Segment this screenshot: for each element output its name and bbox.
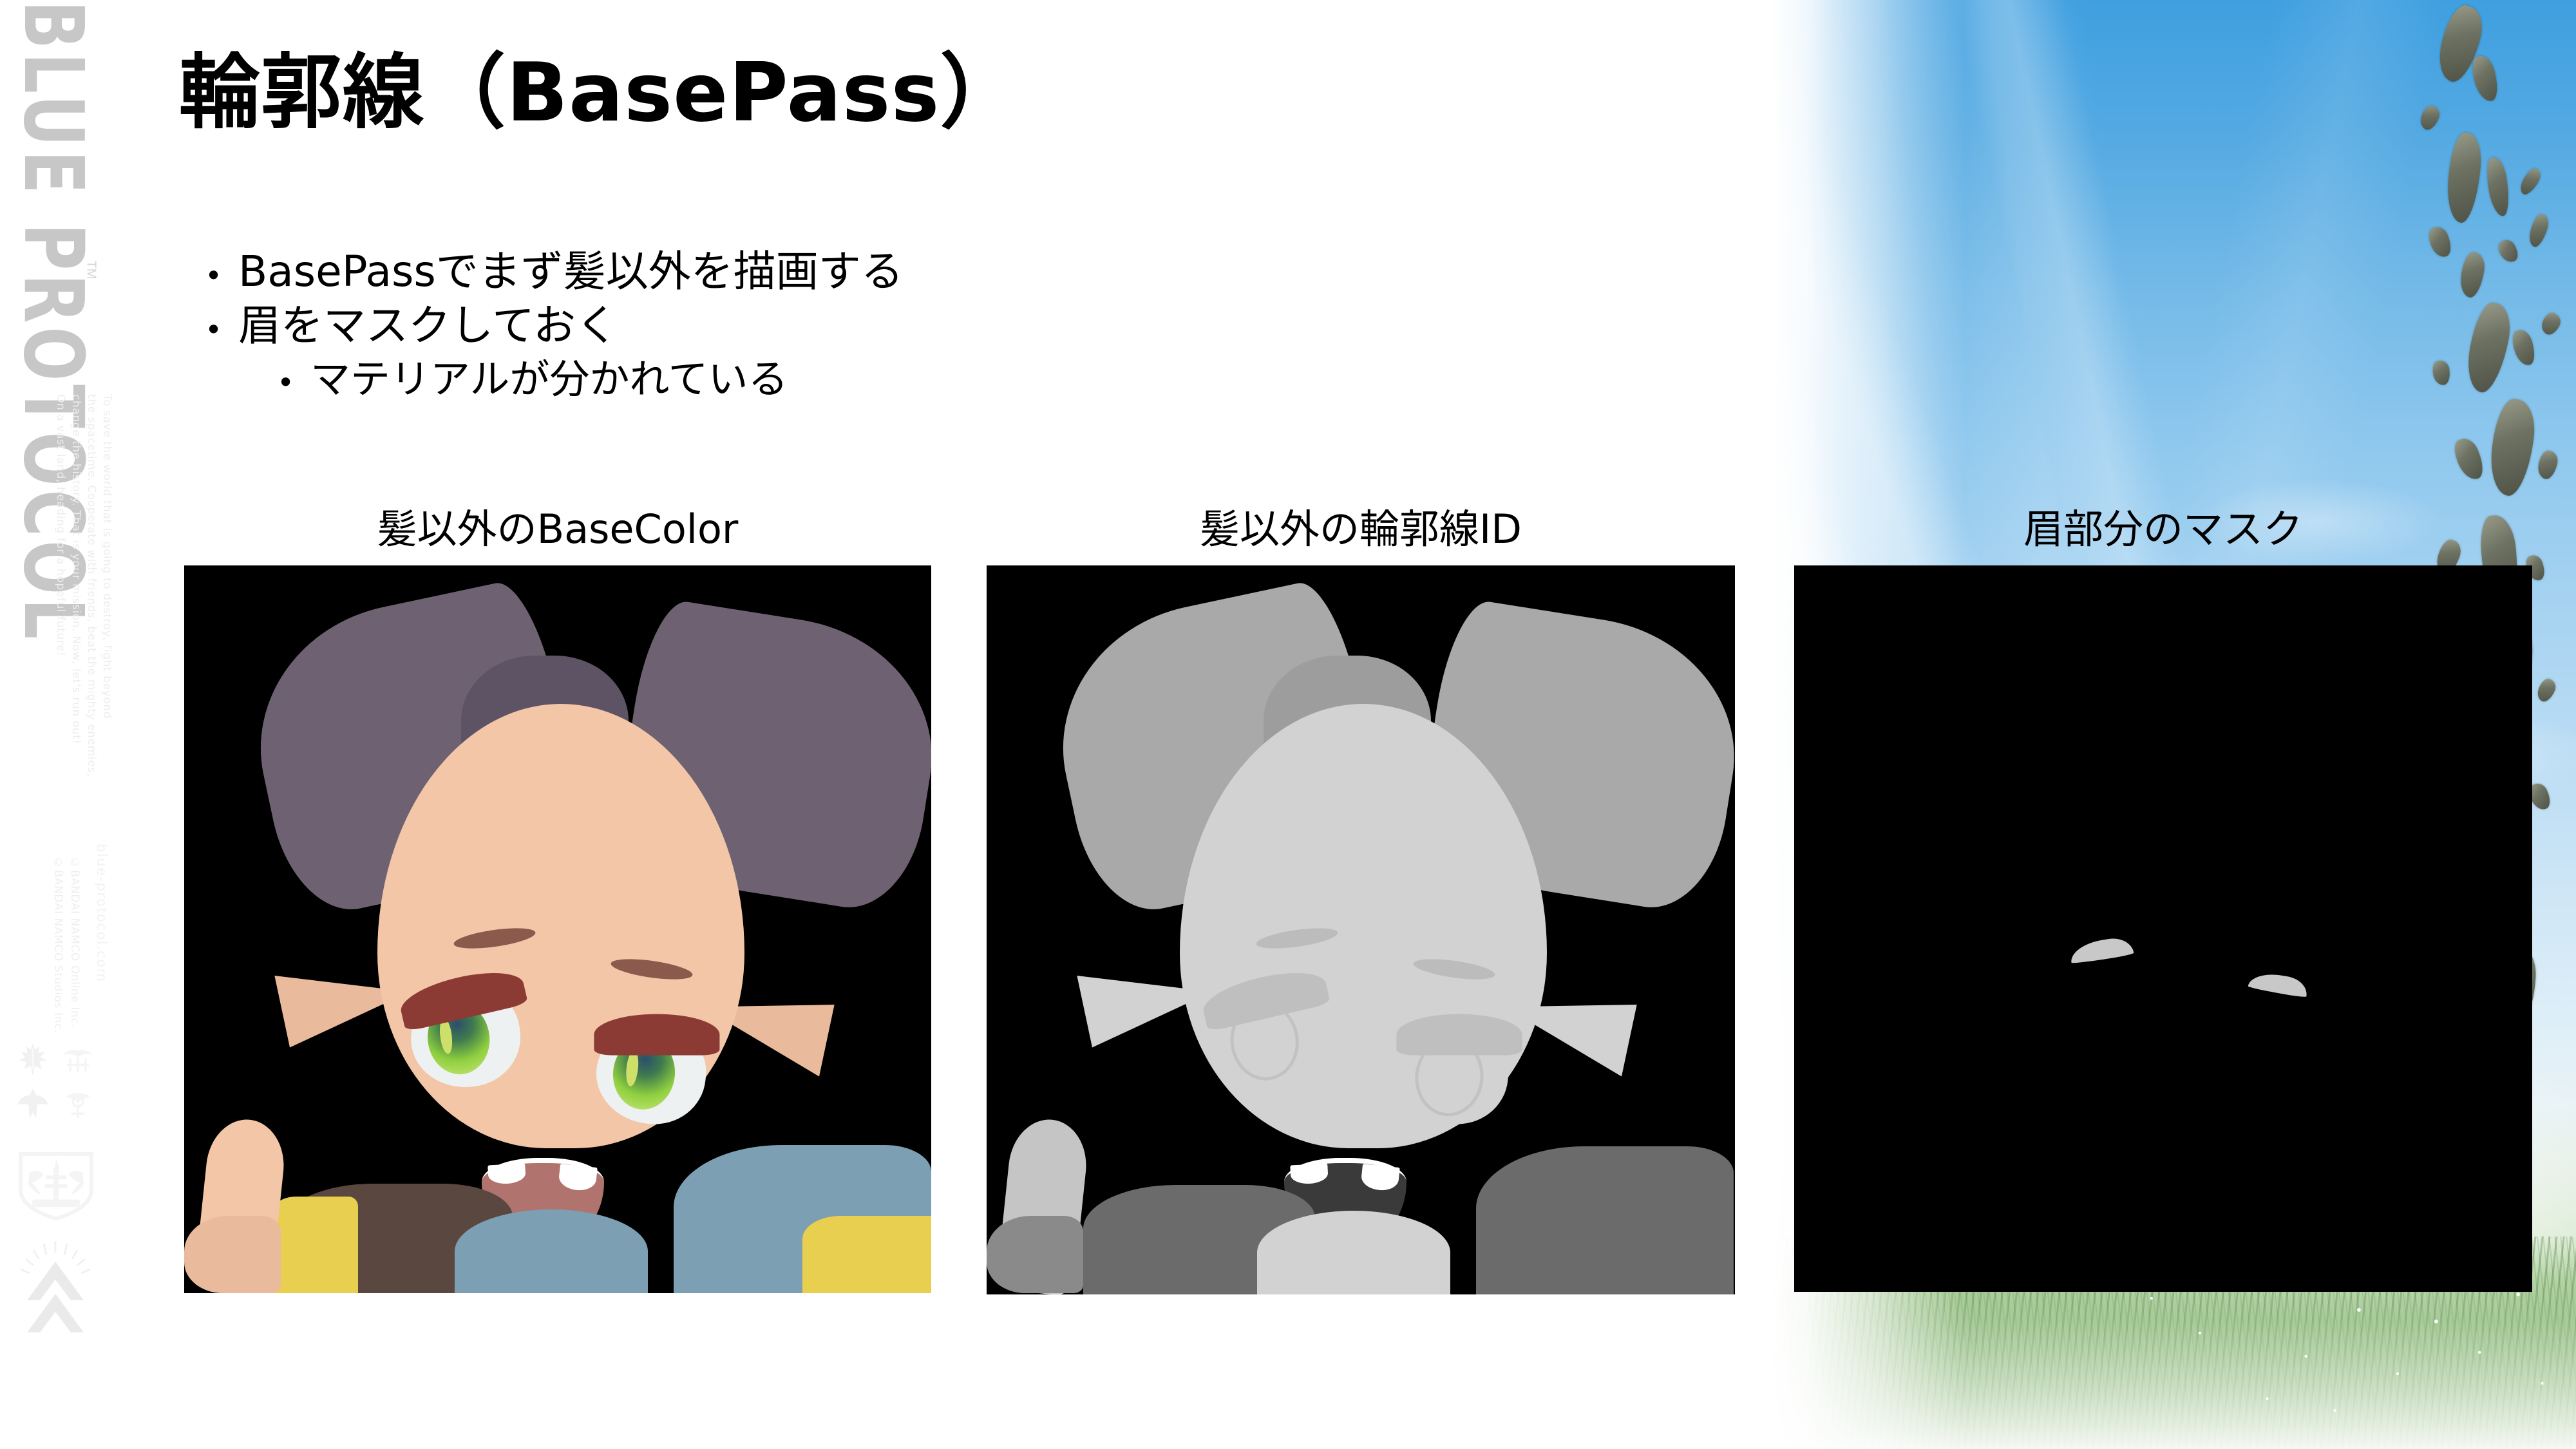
shoulder-right (1476, 1146, 1734, 1294)
brand-logo-text: BLUE PROTOCOL (0, 1, 115, 380)
hand-thumb (987, 1216, 1083, 1293)
trademark-mark: TM (84, 261, 99, 279)
bullet-item-3: • マテリアルが分かれている (205, 354, 1686, 404)
figure-eyebrow-mask: 眉部分のマスク (1794, 507, 2532, 1292)
eye-left (1207, 981, 1329, 1094)
neck-collar (1257, 1211, 1450, 1294)
eye-right (1394, 1019, 1513, 1130)
mask-eyebrow-right (2248, 970, 2309, 998)
figure-image-basecolor (184, 565, 931, 1293)
neck-collar (455, 1209, 648, 1293)
bullet-marker-icon: • (205, 315, 238, 345)
slide-title: 輪郭線（BasePass） (179, 27, 1022, 144)
figure-basecolor: 髪以外のBaseColor (184, 507, 931, 1293)
bullet-list: • BasePassでまず髪以外を描画する • 眉をマスクしておく • マテリア… (205, 245, 1686, 404)
cloth-accent-right (802, 1216, 931, 1293)
character-render-color (184, 565, 931, 1293)
bullet-marker-icon: • (205, 261, 238, 290)
mask-eyebrow-left (2069, 936, 2134, 965)
mask-render (1794, 565, 2532, 1292)
character-render-id (987, 565, 1735, 1294)
bullet-text: 眉をマスクしておく (238, 299, 618, 353)
bullet-marker-icon: • (277, 368, 310, 397)
hand-thumb (184, 1216, 281, 1293)
figure-image-outline-id (987, 565, 1735, 1294)
bullet-text: BasePassでまず髪以外を描画する (238, 245, 904, 299)
blue-protocol-logo: BLUE PROTOCOL TM (0, 1, 106, 413)
figure-caption: 髪以外のBaseColor (184, 507, 931, 551)
eye-right (591, 1019, 710, 1130)
presentation-slide: BLUE PROTOCOL TM To save the world that … (0, 0, 2576, 1449)
figure-caption: 髪以外の輪郭線ID (987, 507, 1735, 551)
bullet-text: マテリアルが分かれている (310, 354, 788, 404)
eye-left (405, 981, 526, 1094)
bullet-item-2: • 眉をマスクしておく (205, 299, 1686, 353)
figure-image-eyebrow-mask (1794, 565, 2532, 1292)
bullet-item-1: • BasePassでまず髪以外を描画する (205, 245, 1686, 299)
figure-caption: 眉部分のマスク (1794, 507, 2532, 551)
figure-row: 髪以外のBaseColor (0, 507, 2576, 1345)
figure-outline-id: 髪以外の輪郭線ID (987, 507, 1735, 1294)
